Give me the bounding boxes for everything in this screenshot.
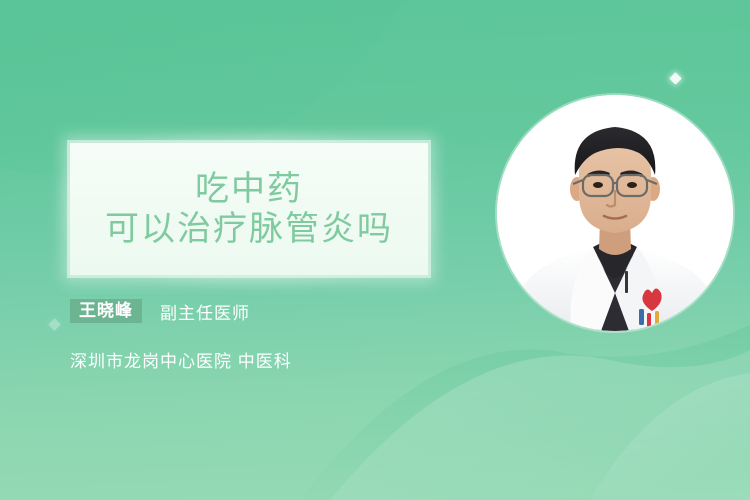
doctor-portrait-illustration [497,95,733,331]
doctor-affiliation: 深圳市龙岗中心医院 中医科 [70,347,470,372]
sparkle-diamond-icon [48,318,61,331]
doctor-name-row: 王晓峰 副主任医师 [70,296,470,326]
title-card: 吃中药 可以治疗脉管炎吗 [70,143,428,275]
title-line-2: 可以治疗脉管炎吗 [105,210,393,248]
doctor-portrait-circle [497,95,733,331]
eye-right [627,182,637,188]
lanyard-strap [625,271,628,293]
doctor-meta: 王晓峰 副主任医师 深圳市龙岗中心医院 中医科 [70,296,470,372]
doctor-rank: 副主任医师 [160,299,250,324]
title-line-1: 吃中药 [195,170,303,208]
wave-ridge-right [590,372,750,500]
doctor-name-badge: 王晓峰 [70,299,142,323]
sparkle-diamond-icon [669,72,682,85]
cover-canvas: 吃中药 可以治疗脉管炎吗 王晓峰 副主任医师 深圳市龙岗中心医院 中医科 [0,0,750,500]
eye-left [593,182,603,188]
